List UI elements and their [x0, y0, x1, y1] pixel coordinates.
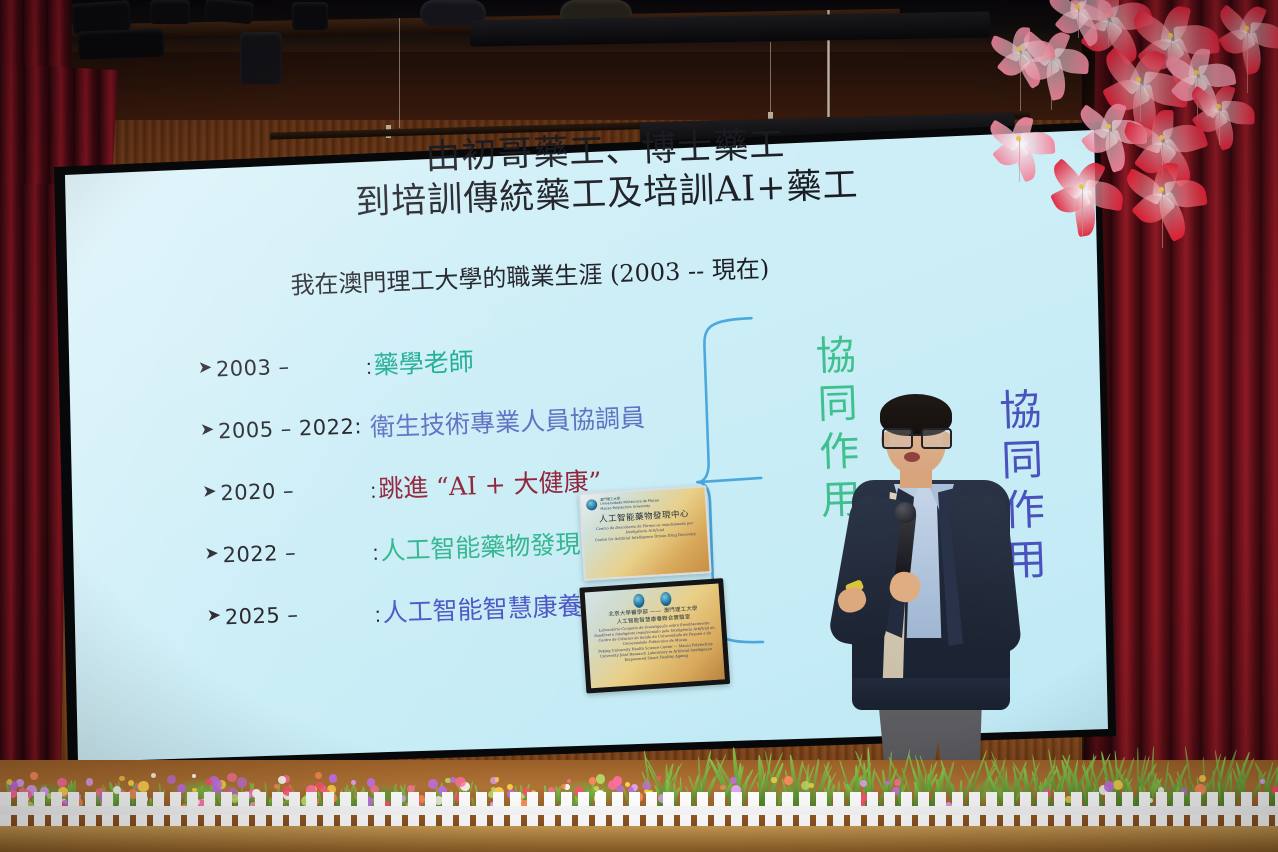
university-seal-icon — [586, 499, 598, 511]
bullet-year: 2020 – — [220, 477, 371, 504]
macao-polytechnic-seal-icon — [660, 592, 672, 607]
peking-university-seal-icon — [633, 593, 645, 608]
foreground-flower — [613, 776, 623, 786]
eyeglasses-icon — [882, 428, 950, 445]
foreground-flower — [657, 776, 661, 780]
flower-stem — [1020, 50, 1021, 111]
foreground-flower — [119, 776, 125, 782]
bullet-year: 2005 – 2022: — [218, 415, 369, 442]
stage-light-icon — [150, 0, 190, 24]
bullet-value: 藥學老師 — [373, 349, 474, 378]
flower-stem — [1140, 82, 1141, 122]
flower-stem — [1051, 56, 1052, 110]
foreground-flower — [128, 780, 134, 786]
foreground-flower — [315, 772, 322, 779]
microphone-head-icon — [895, 502, 916, 523]
presenter-mouth — [904, 452, 920, 462]
foreground-flower — [771, 777, 776, 782]
slide-title: 由初哥藥工、博士藥工 到培訓傳統藥工及培訓AI+藥工 — [285, 119, 928, 227]
foreground-flower — [315, 782, 323, 790]
foreground-flower — [138, 781, 148, 791]
foreground-flower — [30, 772, 38, 780]
bullet-arrow-icon: ➤ — [198, 358, 217, 377]
foreground-flower — [455, 777, 466, 788]
stage-photo: 由初哥藥工、博士藥工 到培訓傳統藥工及培訓AI+藥工 我在澳門理工大學的職業生涯… — [0, 0, 1278, 852]
foreground-flower — [367, 778, 375, 786]
stage-light-icon — [78, 29, 165, 60]
bullet-year: 2025 – — [224, 601, 375, 628]
stage-light-icon — [204, 0, 254, 24]
bullet-year: 2022 – — [222, 539, 373, 566]
fence-rail — [0, 806, 1278, 815]
foreground-flower — [885, 781, 889, 785]
eyeglass-lens — [921, 428, 952, 449]
flower-stem — [1108, 18, 1109, 44]
flower-stem — [1219, 108, 1220, 145]
bullet-value: 跳進 “AI + 大健康” — [378, 469, 602, 502]
foreground-flower — [278, 776, 286, 784]
ai-drug-discovery-centre-plaque: 澳門理工大學 Universidade Politécnica de Macau… — [578, 485, 711, 581]
foreground-flower — [1199, 775, 1206, 782]
bullet-value: 人工智能藥物發現 — [380, 531, 581, 563]
speaker-box-icon — [240, 32, 282, 84]
slide-subtitle: 我在澳門理工大學的職業生涯 (2003 -- 現在) — [209, 246, 850, 304]
foreground-flower — [625, 782, 630, 787]
flower-stem — [1082, 188, 1083, 237]
eyeglass-bridge — [909, 434, 921, 436]
foreground-flower — [1104, 781, 1115, 792]
foreground-flower — [329, 774, 337, 782]
bullet-colon: : — [372, 542, 379, 566]
foreground-flower — [730, 777, 737, 784]
presenter-jacket-hem — [852, 678, 1010, 710]
bullet-arrow-icon: ➤ — [204, 544, 223, 563]
foreground-flower — [237, 777, 248, 788]
foreground-flower — [227, 773, 236, 782]
stage-light-icon — [71, 0, 131, 34]
bullet-colon: : — [374, 604, 381, 628]
bullet-arrow-icon: ➤ — [206, 606, 225, 625]
joint-laboratory-plaque: 北京大學醫學部 —— 澳門理工大學 人工智能智慧康養聯合實驗室 Laborató… — [579, 578, 730, 693]
flower-stem — [1109, 128, 1110, 156]
bullet-arrow-icon: ➤ — [200, 420, 219, 439]
flower-stem — [1019, 140, 1020, 182]
foreground-flower — [1113, 780, 1123, 790]
foreground-flower — [561, 784, 565, 788]
foreground-flower — [274, 784, 279, 789]
foreground-flower — [784, 776, 793, 785]
bullet-arrow-icon: ➤ — [202, 482, 221, 501]
bullet-year: 2003 – — [216, 353, 367, 380]
flower-stem — [1078, 8, 1079, 38]
foreground-flower — [495, 777, 499, 781]
stage-edge — [0, 826, 1278, 852]
bullet-value: 人工智能智慧康養 — [382, 593, 583, 625]
foreground-flower — [809, 783, 814, 788]
stage-light-icon — [292, 2, 328, 30]
foreground-flower — [192, 774, 196, 778]
eyeglass-lens — [882, 428, 913, 449]
foreground-flower — [642, 781, 651, 790]
bullet-colon: : — [370, 480, 377, 504]
foreground-flower — [720, 785, 725, 790]
foreground-flower — [7, 779, 13, 785]
bullet-colon: : — [366, 356, 373, 380]
flower-stem — [1162, 192, 1163, 248]
flower-stem — [1247, 30, 1248, 93]
